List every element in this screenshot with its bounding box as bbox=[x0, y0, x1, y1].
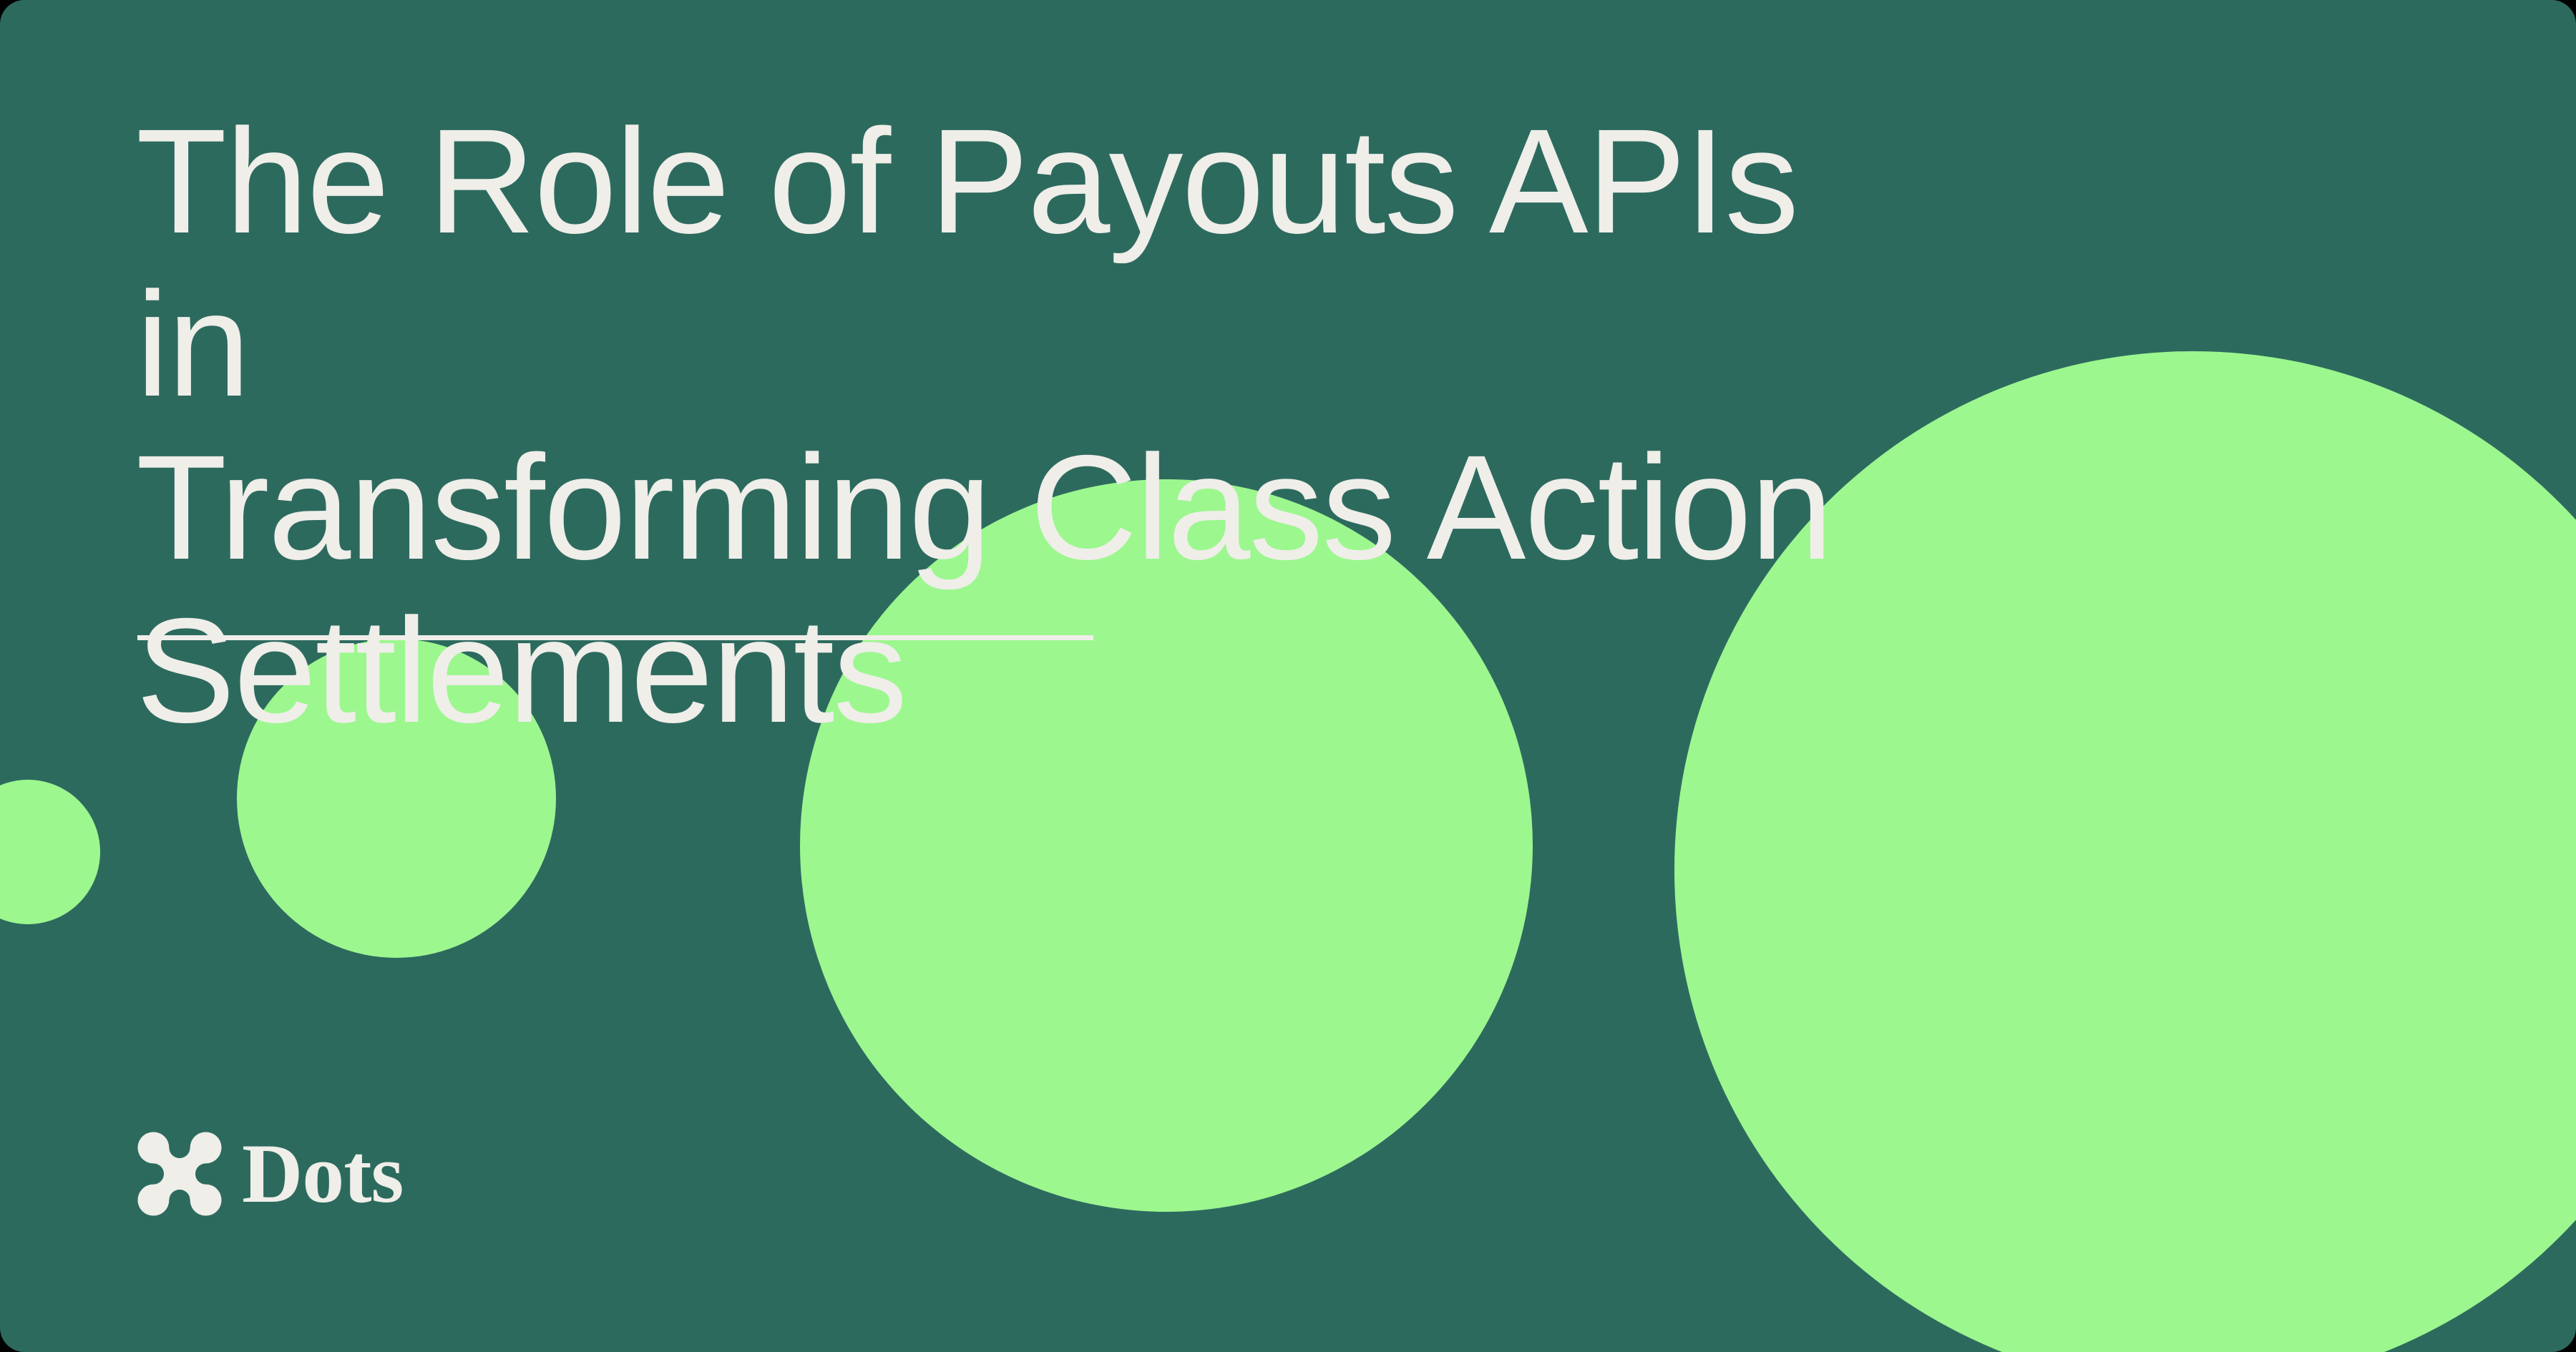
title-block: The Role of Payouts APIs in Transforming… bbox=[136, 100, 1996, 753]
brand-wordmark: Dots bbox=[242, 1132, 403, 1216]
title-divider bbox=[137, 635, 1093, 640]
decorative-circle-extra-small bbox=[0, 780, 100, 924]
brand-logo[interactable]: Dots bbox=[136, 1130, 403, 1218]
page-title: The Role of Payouts APIs in Transforming… bbox=[136, 100, 1853, 753]
hero-banner: The Role of Payouts APIs in Transforming… bbox=[0, 0, 2576, 1352]
dots-x-mark-icon bbox=[136, 1130, 223, 1218]
